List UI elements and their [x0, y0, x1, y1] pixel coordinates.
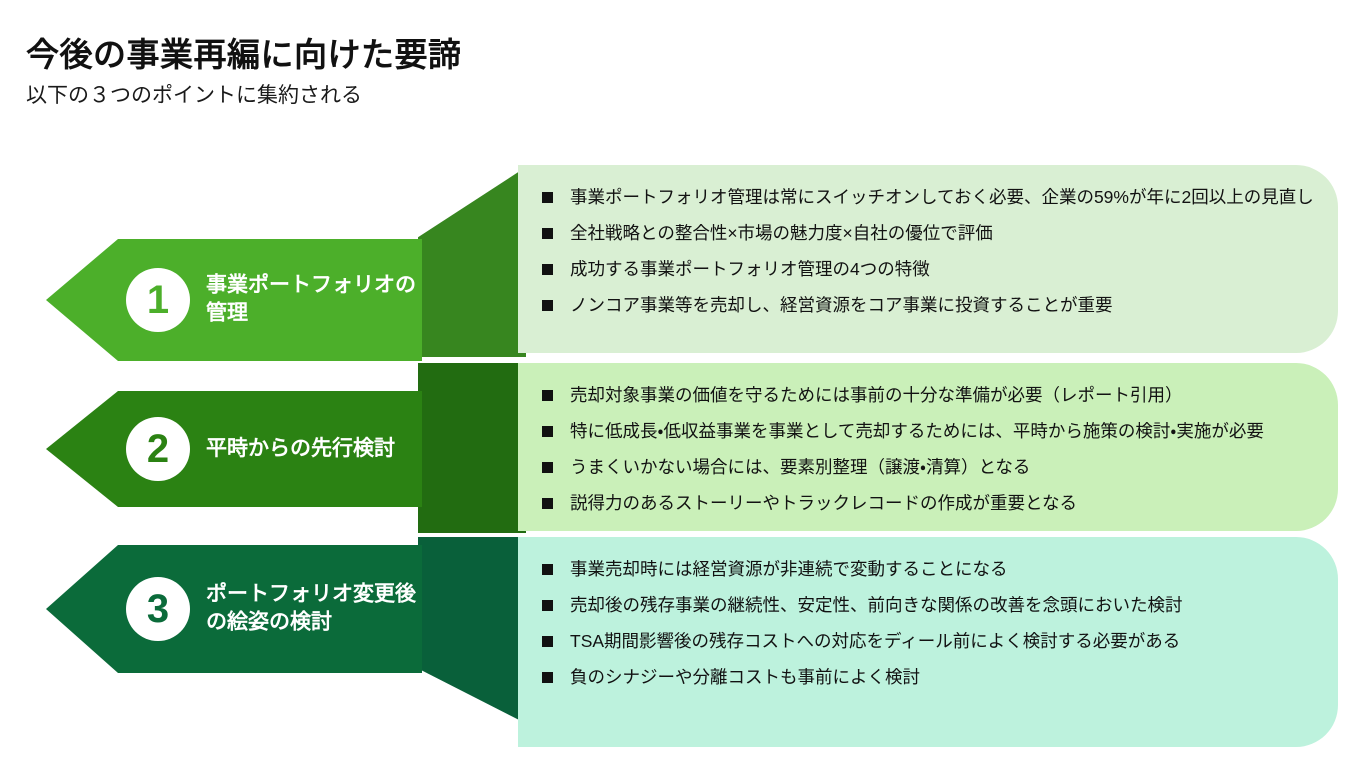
bullet-list-3: 事業売却時には経営資源が非連続で変動することになる 売却後の残存事業の継続性、安… — [542, 559, 1312, 689]
bullet-text: TSA期間影響後の残存コストへの対応をディール前によく検討する必要がある — [570, 631, 1312, 653]
square-bullet-icon — [542, 600, 553, 611]
square-bullet-icon — [542, 192, 553, 203]
square-bullet-icon — [542, 228, 553, 239]
bullet-text: 負のシナジーや分離コストも事前によく検討 — [570, 667, 1312, 689]
bullet-list-2: 売却対象事業の価値を守るためには事前の十分な準備が必要（レポート引用） 特に低成… — [542, 385, 1312, 515]
list-item: 売却後の残存事業の継続性、安定性、前向きな関係の改善を念頭においた検討 — [542, 595, 1312, 617]
step-number-badge-1: 1 — [126, 268, 190, 332]
list-item: 負のシナジーや分離コストも事前によく検討 — [542, 667, 1312, 689]
square-bullet-icon — [542, 390, 553, 401]
bullet-text: 説得力のあるストーリーやトラックレコードの作成が重要となる — [570, 493, 1312, 515]
square-bullet-icon — [542, 462, 553, 473]
bullet-text: 売却後の残存事業の継続性、安定性、前向きな関係の改善を念頭においた検討 — [570, 595, 1312, 617]
chevron-label-3: ポートフォリオ変更後の絵姿の検討 — [206, 581, 416, 638]
square-bullet-icon — [542, 264, 553, 275]
bullet-text: 事業売却時には経営資源が非連続で変動することになる — [570, 559, 1312, 581]
chevron-label-2: 平時からの先行検討 — [206, 435, 416, 463]
bullet-list-1: 事業ポートフォリオ管理は常にスイッチオンしておく必要、企業の59%が年に2回以上… — [542, 187, 1312, 317]
list-item: うまくいかない場合には、要素別整理（譲渡・清算）となる — [542, 457, 1312, 479]
bullet-text: ノンコア事業等を売却し、経営資源をコア事業に投資することが重要 — [570, 295, 1312, 317]
list-item: ノンコア事業等を売却し、経営資源をコア事業に投資することが重要 — [542, 295, 1312, 317]
bullet-text: 事業ポートフォリオ管理は常にスイッチオンしておく必要、企業の59%が年に2回以上… — [570, 187, 1314, 209]
list-item: 事業売却時には経営資源が非連続で変動することになる — [542, 559, 1312, 581]
bullet-text: 特に低成長・低収益事業を事業として売却するためには、平時から施策の検討・実施が必… — [570, 421, 1312, 443]
square-bullet-icon — [542, 564, 553, 575]
list-item: 成功する事業ポートフォリオ管理の4つの特徴 — [542, 259, 1312, 281]
list-item: 特に低成長・低収益事業を事業として売却するためには、平時から施策の検討・実施が必… — [542, 421, 1312, 443]
bullet-text: うまくいかない場合には、要素別整理（譲渡・清算）となる — [570, 457, 1312, 479]
square-bullet-icon — [542, 300, 553, 311]
list-item: 全社戦略との整合性×市場の魅力度×自社の優位で評価 — [542, 223, 1312, 245]
chevron-step-2: 2 平時からの先行検討 — [46, 391, 422, 507]
slide-canvas: 今後の事業再編に向けた要諦 以下の３つのポイントに集約される 事業ポートフォリオ… — [0, 0, 1359, 760]
connector-shape-3 — [418, 537, 526, 749]
list-item: 売却対象事業の価値を守るためには事前の十分な準備が必要（レポート引用） — [542, 385, 1312, 407]
step-number-badge-3: 3 — [126, 577, 190, 641]
square-bullet-icon — [542, 426, 553, 437]
list-item: 説得力のあるストーリーやトラックレコードの作成が重要となる — [542, 493, 1312, 515]
detail-panel-2: 売却対象事業の価値を守るためには事前の十分な準備が必要（レポート引用） 特に低成… — [518, 363, 1338, 531]
connector-shape-2 — [418, 363, 526, 533]
square-bullet-icon — [542, 498, 553, 509]
chevron-label-1: 事業ポートフォリオの管理 — [206, 272, 416, 329]
bullet-text: 成功する事業ポートフォリオ管理の4つの特徴 — [570, 259, 1312, 281]
process-rows: 事業ポートフォリオ管理は常にスイッチオンしておく必要、企業の59%が年に2回以上… — [0, 0, 1359, 760]
chevron-step-3: 3 ポートフォリオ変更後の絵姿の検討 — [46, 545, 422, 673]
detail-panel-3: 事業売却時には経営資源が非連続で変動することになる 売却後の残存事業の継続性、安… — [518, 537, 1338, 747]
step-number-badge-2: 2 — [126, 417, 190, 481]
detail-panel-1: 事業ポートフォリオ管理は常にスイッチオンしておく必要、企業の59%が年に2回以上… — [518, 165, 1338, 353]
chevron-step-1: 1 事業ポートフォリオの管理 — [46, 239, 422, 361]
list-item: 事業ポートフォリオ管理は常にスイッチオンしておく必要、企業の59%が年に2回以上… — [542, 187, 1312, 209]
list-item: TSA期間影響後の残存コストへの対応をディール前によく検討する必要がある — [542, 631, 1312, 653]
bullet-text: 全社戦略との整合性×市場の魅力度×自社の優位で評価 — [570, 223, 1312, 245]
square-bullet-icon — [542, 636, 553, 647]
connector-shape-1 — [418, 167, 526, 357]
bullet-text: 売却対象事業の価値を守るためには事前の十分な準備が必要（レポート引用） — [570, 385, 1312, 407]
square-bullet-icon — [542, 672, 553, 683]
